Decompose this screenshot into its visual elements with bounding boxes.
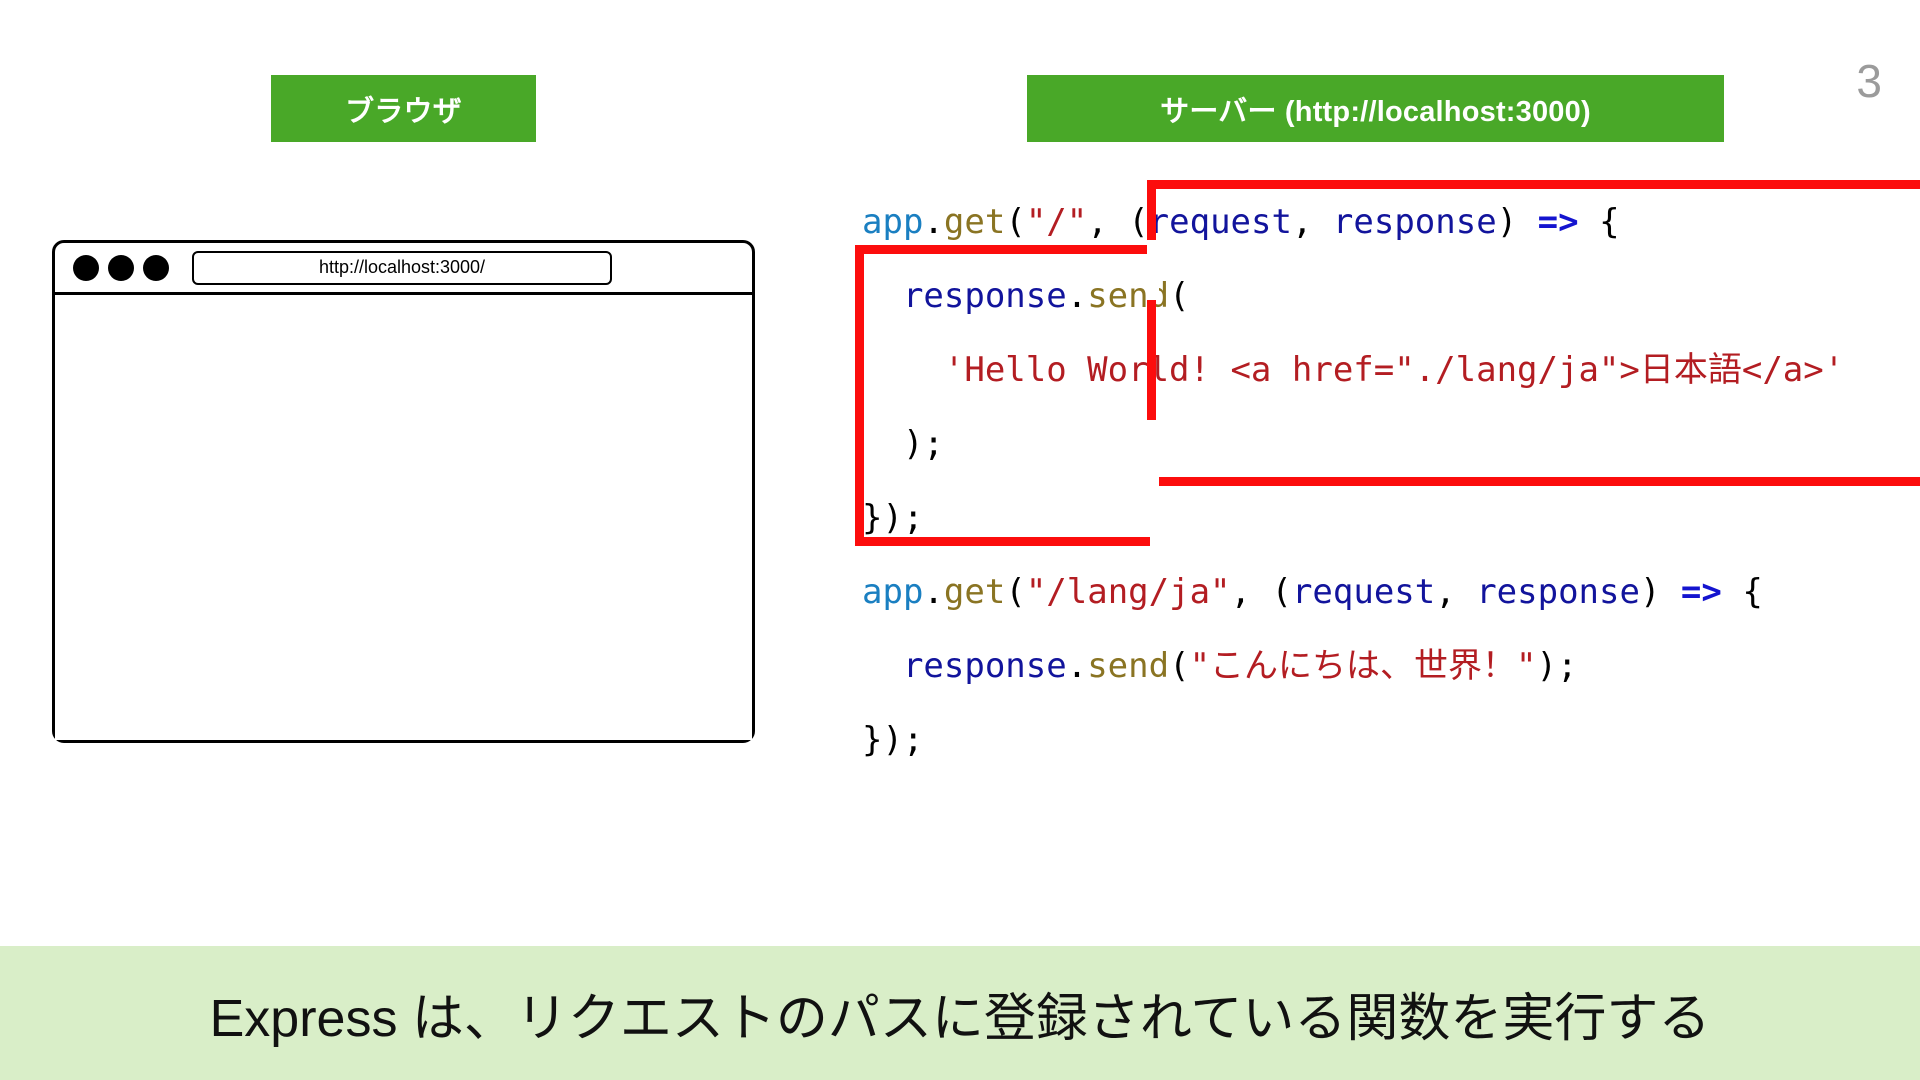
code-token: request — [1149, 202, 1292, 242]
browser-viewport — [55, 295, 752, 740]
close-dot-icon — [73, 255, 99, 281]
browser-chrome: http://localhost:3000/ — [55, 243, 752, 295]
code-token: ); — [862, 424, 944, 464]
browser-panel-title: ブラウザ — [271, 75, 536, 142]
address-bar[interactable]: http://localhost:3000/ — [192, 251, 612, 285]
code-token: }); — [862, 720, 923, 760]
code-token: response — [1333, 202, 1497, 242]
code-token: . — [1067, 646, 1087, 686]
code-line: }); — [862, 481, 1844, 555]
code-token: => — [1538, 202, 1579, 242]
code-token: app — [862, 572, 923, 612]
code-token: . — [1067, 276, 1087, 316]
code-token: app — [862, 202, 923, 242]
code-token: ( — [1169, 646, 1189, 686]
code-token: response — [1476, 572, 1640, 612]
code-token: request — [1292, 572, 1435, 612]
code-token: , — [1435, 572, 1476, 612]
code-token — [862, 350, 944, 390]
minimize-dot-icon — [108, 255, 134, 281]
highlight-mask-top — [1147, 240, 1159, 300]
code-token: ) — [1497, 202, 1538, 242]
code-token: 'Hello World! <a href="./lang/ja">日本語</a… — [944, 350, 1844, 390]
code-token: ( — [1128, 202, 1148, 242]
code-token: . — [923, 202, 943, 242]
code-line: ); — [862, 407, 1844, 481]
code-token: , — [1292, 202, 1333, 242]
code-line: app.get("/", (request, response) => { — [862, 185, 1844, 259]
code-token: { — [1579, 202, 1620, 242]
code-token: ( — [1271, 572, 1291, 612]
code-token: ); — [1537, 646, 1578, 686]
code-token: response — [903, 276, 1067, 316]
code-token: => — [1681, 572, 1722, 612]
maximize-dot-icon — [143, 255, 169, 281]
code-token — [862, 646, 903, 686]
highlight-mask-bottom — [1147, 420, 1159, 490]
code-token — [862, 276, 903, 316]
server-panel-title: サーバー (http://localhost:3000) — [1027, 75, 1724, 142]
code-token: ( — [1005, 202, 1025, 242]
code-token: "/lang/ja" — [1026, 572, 1231, 612]
browser-window-mock: http://localhost:3000/ — [52, 240, 755, 743]
code-line: response.send( — [862, 259, 1844, 333]
code-line: 'Hello World! <a href="./lang/ja">日本語</a… — [862, 333, 1844, 407]
server-code-block: app.get("/", (request, response) => { re… — [862, 185, 1844, 777]
code-token: . — [923, 572, 943, 612]
code-token: ( — [1169, 276, 1189, 316]
code-line: response.send("こんにちは、世界！"); — [862, 629, 1844, 703]
code-token: response — [903, 646, 1067, 686]
code-token: send — [1087, 646, 1169, 686]
code-token: ) — [1640, 572, 1681, 612]
slide-number: 3 — [1856, 58, 1882, 104]
code-token: get — [944, 572, 1005, 612]
code-token: "/" — [1026, 202, 1087, 242]
code-token: , — [1087, 202, 1128, 242]
caption-banner: Express は、リクエストのパスに登録されている関数を実行する — [0, 946, 1920, 1080]
code-token: { — [1722, 572, 1763, 612]
code-line: }); — [862, 703, 1844, 777]
code-token: "こんにちは、世界！" — [1190, 646, 1537, 686]
code-line: app.get("/lang/ja", (request, response) … — [862, 555, 1844, 629]
code-token: ( — [1005, 572, 1025, 612]
code-token: get — [944, 202, 1005, 242]
code-token: }); — [862, 498, 923, 538]
code-token: , — [1231, 572, 1272, 612]
